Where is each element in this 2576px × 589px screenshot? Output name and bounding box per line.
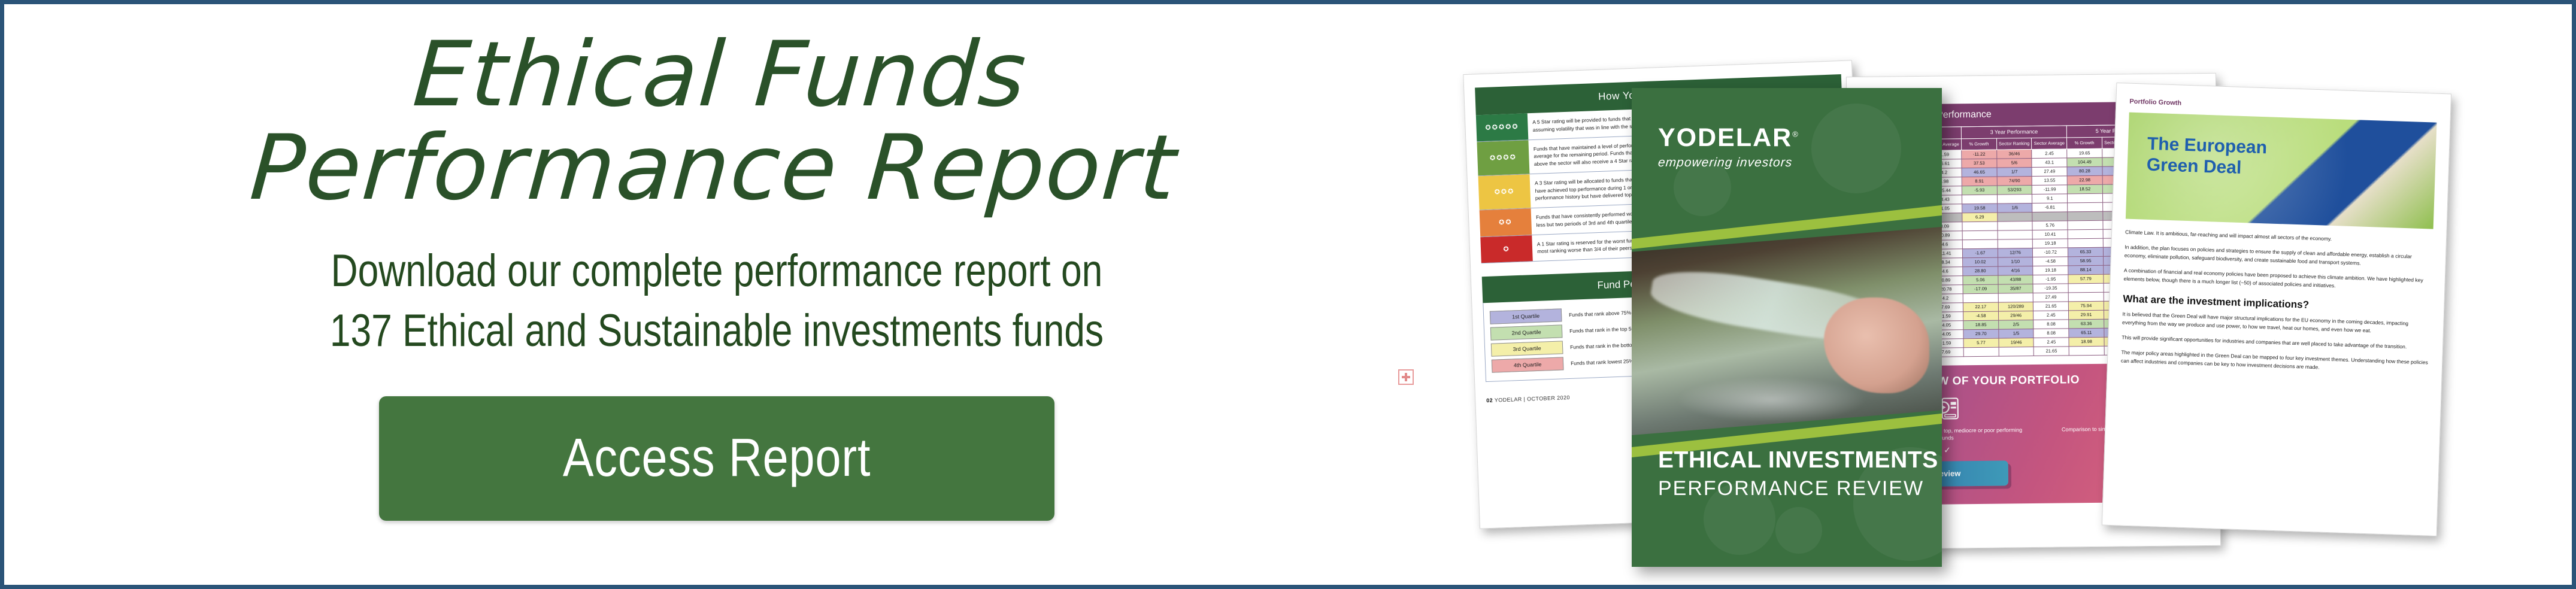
table-cell [1999,347,2034,356]
table-cell: 2/5 [1998,320,2033,329]
table-cell: 1/10 [1998,257,2033,266]
table-cell: -1.67 [1962,248,1998,258]
quartile-chip: 4th Quartile [1492,357,1564,372]
cover-title: ETHICAL INVESTMENTS PERFORMANCE REVIEW [1658,448,1938,500]
brand-wordmark: YODELAR® [1658,125,1799,151]
page-footer-text: YODELAR | OCTOBER 2020 [1495,394,1570,403]
table-cell [1963,293,1998,303]
table-cell: 29.70 [1963,329,1999,339]
deal-paragraph: In addition, the plan focuses on policie… [2125,243,2433,270]
deal-paragraph: A combination of financial and real econ… [2123,266,2432,293]
table-cell [2069,346,2104,356]
table-cell: 88.14 [2068,265,2104,275]
table-cell [2068,220,2103,230]
table-cell: 9.1 [2032,194,2068,204]
table-cell: -1.95 [2033,275,2068,284]
table-cell: -5.93 [1962,186,1997,195]
table-cell: 27.49 [2033,293,2069,302]
table-cell: 19.58 [1962,204,1998,213]
table-cell: 65.33 [2068,247,2104,257]
table-cell: 1/7 [1997,167,2032,177]
table-cell [1998,293,2033,302]
table-cell: 22.17 [1963,302,1998,312]
table-cell [2068,202,2103,212]
table-cell: 57.79 [2068,274,2104,284]
page-title: Ethical Funds Performance Report [247,28,1186,215]
table-cell [1962,230,1998,240]
table-cell [1962,195,1998,204]
table-cell: 58.95 [2068,256,2104,266]
promo-content: Ethical Funds Performance Report Downloa… [4,4,1429,585]
bokeh-circle [1811,104,1901,193]
water-splash-shape [1675,377,1868,423]
table-cell: 120/289 [1998,302,2033,311]
group-header-3y: 3 Year Performance [1961,126,2066,139]
deal-paragraph: The major policy areas highlighted in th… [2121,348,2429,375]
table-cell: 19.18 [2033,239,2068,248]
table-cell: 5.76 [2032,221,2068,230]
rating-stars: ✪✪ [1480,208,1532,236]
table-cell [1998,221,2033,230]
cover-title-line-1: ETHICAL INVESTMENTS [1658,448,1938,473]
headline-line-2: Performance Report [247,122,1180,215]
table-cell: 19/46 [1999,338,2034,347]
table-cell: 1/5 [1999,329,2034,338]
table-cell: 63.36 [2069,319,2104,329]
table-cell [2068,211,2103,221]
table-cell: 13.55 [2032,176,2068,186]
table-cell: 12/76 [1998,248,2033,257]
table-cell: 19.18 [2033,266,2068,275]
table-cell: -17.09 [1963,284,1998,294]
table-cell: 29.91 [2069,310,2104,320]
table-cell: 29/46 [1998,311,2033,320]
table-cell: 5.77 [1963,338,1999,348]
table-cell [1998,212,2033,221]
registered-mark-icon: ® [1792,130,1799,139]
table-cell: -11.99 [2032,185,2068,195]
page-number: 02 [1486,397,1493,403]
table-cell: 43/88 [1998,275,2033,284]
table-cell [1962,221,1998,231]
headline-line-1: Ethical Funds [410,23,1030,127]
cover-photo [1632,227,1942,435]
cover-title-line-2: PERFORMANCE REVIEW [1658,478,1938,500]
deal-paragraph: Climate Law. It is ambitious, far-reachi… [2125,229,2433,247]
table-cell: 6.29 [1962,212,1998,222]
table-cell: 2.45 [2033,338,2069,347]
table-cell [2068,229,2103,239]
subheading-line-1: Download our complete performance report… [330,241,1104,301]
table-cell [2068,238,2103,248]
table-cell: -19.35 [2033,284,2068,293]
table-cell [1997,194,2032,204]
table-cell: 37.53 [1962,159,1997,168]
table-cell: 80.28 [2067,166,2102,176]
table-cell: 21.65 [2034,347,2069,356]
table-cell: 5/6 [1997,158,2032,168]
column-header: % Growth [2067,138,2102,149]
green-deal-hero-title: The European Green Deal [2146,133,2267,180]
table-cell: 2.45 [2033,311,2069,320]
green-deal-body: Climate Law. It is ambitious, far-reachi… [2121,229,2433,376]
table-cell [2068,193,2103,203]
deal-paragraph: This will provide significant opportunit… [2122,333,2429,352]
table-cell: 75.94 [2068,301,2104,311]
table-cell: 18.98 [2069,337,2104,347]
access-report-button[interactable]: Access Report [379,396,1054,521]
brand-tagline: empowering investors [1657,156,1800,170]
promo-subheading: Download our complete performance report… [330,241,1104,362]
table-cell: -4.58 [2033,257,2068,266]
table-cell: 8.08 [2033,329,2069,338]
quartile-chip: 3rd Quartile [1491,341,1563,356]
table-cell: 22.98 [2067,175,2102,185]
table-cell: 5.06 [1963,275,1998,285]
green-deal-hero-image: The European Green Deal [2126,113,2437,229]
rating-stars: ✪ [1480,235,1533,263]
table-cell: -6.81 [2032,203,2068,212]
access-report-button-label: Access Report [563,427,871,489]
table-cell: 8.91 [1962,177,1997,186]
table-cell: 21.65 [2033,302,2069,311]
table-cell: 2.45 [2032,149,2067,159]
table-cell: 46.65 [1962,168,1997,177]
rating-stars: ✪✪✪ [1478,174,1531,210]
table-cell: 1/6 [1997,203,2032,212]
table-cell: 19.65 [2067,148,2102,158]
table-cell [2032,212,2068,221]
table-cell: 18.85 [1963,320,1999,330]
hero-title-line-2: Green Deal [2146,155,2241,178]
column-header: Sector Ranking [1996,138,2032,150]
table-cell: -4.58 [1963,311,1999,321]
quartile-chip: 2nd Quartile [1490,324,1563,340]
table-cell: 4/16 [1998,266,2033,275]
rating-stars: ✪✪✪✪✪ [1476,113,1529,141]
report-page-green-deal[interactable]: Portfolio Growth The European Green Deal… [2102,83,2451,536]
table-cell: 10.41 [2033,230,2068,239]
column-header: Sector Average [2032,138,2067,149]
table-cell: 74/90 [1997,176,2032,186]
table-cell: 28.80 [1963,266,1998,276]
column-header: % Growth [1962,138,1997,150]
table-cell: 104.49 [2067,157,2102,167]
subheading-line-2: 137 Ethical and Sustainable investments … [330,301,1104,361]
quartile-chip: 1st Quartile [1490,308,1562,324]
table-cell: 65.11 [2069,328,2104,338]
deal-paragraph: It is believed that the Green Deal will … [2122,310,2430,337]
promo-banner: Ethical Funds Performance Report Downloa… [0,0,2576,589]
table-cell [1998,239,2033,248]
table-cell: 36/46 [1996,149,2032,159]
brand-name: YODELAR [1658,123,1792,152]
report-preview-montage: How Yodelar Rate Funds ✪✪✪✪✪ A 5 Star ra… [1441,4,2576,588]
table-cell: 8.08 [2033,320,2069,329]
table-cell [1963,347,1999,357]
table-cell [1998,230,2033,239]
cta-container: Access Report [379,396,1054,521]
broken-image-icon [1398,369,1414,385]
table-cell: -10.72 [2033,248,2068,257]
table-cell [2068,292,2104,302]
table-cell: -11.22 [1962,150,1997,159]
table-cell: 53/293 [1997,185,2032,195]
bokeh-circle [1775,507,1822,554]
rating-stars: ✪✪✪✪ [1477,140,1529,175]
table-cell: 18.52 [2067,184,2102,194]
table-cell [1962,239,1998,249]
table-cell: 10.02 [1963,257,1998,267]
table-cell: 27.49 [2032,167,2067,177]
deal-page-kicker: Portfolio Growth [2129,98,2437,116]
table-cell: 43.1 [2032,158,2067,168]
table-cell [2068,283,2104,293]
report-cover[interactable]: YODELAR® empowering investors ETHICAL IN… [1632,88,1942,567]
table-cell: 35/87 [1998,284,2033,293]
hero-title-line-1: The European [2147,134,2268,158]
yodelar-logo: YODELAR® empowering investors [1658,125,1799,170]
